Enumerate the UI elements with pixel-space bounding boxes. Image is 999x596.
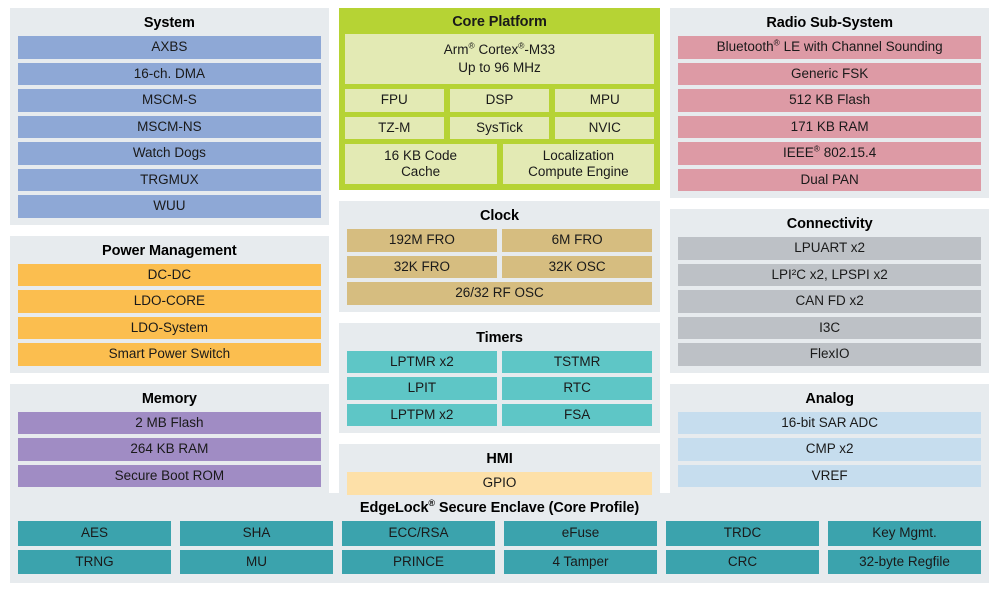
block-6m-fro[interactable]: 6M FRO <box>502 229 652 252</box>
block-32k-osc[interactable]: 32K OSC <box>502 256 652 279</box>
analog-row: 16-bit SAR ADC <box>678 412 981 435</box>
radio-row: Generic FSK <box>678 63 981 86</box>
block-i3c[interactable]: I3C <box>678 317 981 340</box>
block-lpi2c-lpspi[interactable]: LPI²C x2, LPSPI x2 <box>678 264 981 287</box>
hmi-row: GPIO <box>347 472 653 495</box>
block-lptpm[interactable]: LPTPM x2 <box>347 404 497 427</box>
left-column: System AXBS 16-ch. DMA MSCM-S MSCM-NS Wa… <box>10 8 329 482</box>
block-aes[interactable]: AES <box>18 521 171 546</box>
middle-column: Core Platform Arm® Cortex®-M33 Up to 96 … <box>339 8 661 482</box>
power-row: LDO-System <box>18 317 321 340</box>
block-rf-osc[interactable]: 26/32 RF OSC <box>347 282 653 305</box>
panel-title-memory: Memory <box>18 389 321 412</box>
registered-icon: ® <box>428 498 435 508</box>
panel-title-system: System <box>18 13 321 36</box>
block-prince[interactable]: PRINCE <box>342 550 495 575</box>
block-flexio[interactable]: FlexIO <box>678 343 981 366</box>
clock-rows: 192M FRO 6M FRO 32K FRO 32K OSC 26/32 RF… <box>347 229 653 305</box>
core-row-3: 16 KB Code Cache Localization Compute En… <box>345 144 655 184</box>
panel-title-hmi: HMI <box>347 449 653 472</box>
radio-row: 171 KB RAM <box>678 116 981 139</box>
block-fpu[interactable]: FPU <box>345 89 444 112</box>
code-cache-line1: 16 KB Code <box>384 148 457 163</box>
memory-row: 264 KB RAM <box>18 438 321 461</box>
diagram-columns: System AXBS 16-ch. DMA MSCM-S MSCM-NS Wa… <box>10 8 989 482</box>
block-dma[interactable]: 16-ch. DMA <box>18 63 321 86</box>
panel-edgelock-secure-enclave: EdgeLock® Secure Enclave (Core Profile) … <box>10 493 989 583</box>
system-row: 16-ch. DMA <box>18 63 321 86</box>
clock-row: 26/32 RF OSC <box>347 282 653 305</box>
panel-timers: Timers LPTMR x2 TSTMR LPIT RTC LPTPM x2 … <box>339 323 661 434</box>
block-cpu-core[interactable]: Arm® Cortex®-M33 Up to 96 MHz <box>345 34 655 84</box>
block-gpio[interactable]: GPIO <box>347 472 653 495</box>
block-nvic[interactable]: NVIC <box>555 117 654 140</box>
connectivity-row: LPUART x2 <box>678 237 981 260</box>
system-row: WUU <box>18 195 321 218</box>
block-dsp[interactable]: DSP <box>450 89 549 112</box>
enclave-row-2: TRNG MU PRINCE 4 Tamper CRC 32-byte Regf… <box>18 550 981 575</box>
radio-row: Bluetooth® LE with Channel Sounding <box>678 36 981 59</box>
connectivity-row: CAN FD x2 <box>678 290 981 313</box>
timers-row: LPTMR x2 TSTMR <box>347 351 653 374</box>
block-watch-dogs[interactable]: Watch Dogs <box>18 142 321 165</box>
system-row: MSCM-NS <box>18 116 321 139</box>
block-axbs[interactable]: AXBS <box>18 36 321 59</box>
block-mpu[interactable]: MPU <box>555 89 654 112</box>
lce-line2: Compute Engine <box>528 164 629 179</box>
block-key-mgmt[interactable]: Key Mgmt. <box>828 521 981 546</box>
connectivity-row: FlexIO <box>678 343 981 366</box>
registered-icon: ® <box>814 144 820 154</box>
panel-analog: Analog 16-bit SAR ADC CMP x2 VREF <box>670 384 989 495</box>
block-rtc[interactable]: RTC <box>502 377 652 400</box>
clock-row: 192M FRO 6M FRO <box>347 229 653 252</box>
system-rows: AXBS 16-ch. DMA MSCM-S MSCM-NS Watch Dog… <box>18 36 321 218</box>
block-192m-fro[interactable]: 192M FRO <box>347 229 497 252</box>
block-smart-power-switch[interactable]: Smart Power Switch <box>18 343 321 366</box>
panel-power-management: Power Management DC-DC LDO-CORE LDO-Syst… <box>10 236 329 373</box>
block-wuu[interactable]: WUU <box>18 195 321 218</box>
system-row: TRGMUX <box>18 169 321 192</box>
power-row: LDO-CORE <box>18 290 321 313</box>
block-vref[interactable]: VREF <box>678 465 981 488</box>
clock-row: 32K FRO 32K OSC <box>347 256 653 279</box>
timers-row: LPIT RTC <box>347 377 653 400</box>
right-column: Radio Sub-System Bluetooth® LE with Chan… <box>670 8 989 482</box>
hmi-rows: GPIO <box>347 472 653 495</box>
lce-line1: Localization <box>543 148 614 163</box>
block-trdc[interactable]: TRDC <box>666 521 819 546</box>
block-dual-pan[interactable]: Dual PAN <box>678 169 981 192</box>
code-cache-line2: Cache <box>401 164 440 179</box>
registered-icon: ® <box>469 41 475 51</box>
system-row: Watch Dogs <box>18 142 321 165</box>
block-ldo-core[interactable]: LDO-CORE <box>18 290 321 313</box>
power-row: Smart Power Switch <box>18 343 321 366</box>
block-tz-m[interactable]: TZ-M <box>345 117 444 140</box>
panel-title-analog: Analog <box>678 389 981 412</box>
block-4-tamper[interactable]: 4 Tamper <box>504 550 657 575</box>
block-generic-fsk[interactable]: Generic FSK <box>678 63 981 86</box>
block-trgmux[interactable]: TRGMUX <box>18 169 321 192</box>
block-ieee-802-15-4[interactable]: IEEE® 802.15.4 <box>678 142 981 165</box>
registered-icon: ® <box>518 41 524 51</box>
block-mscm-ns[interactable]: MSCM-NS <box>18 116 321 139</box>
power-row: DC-DC <box>18 264 321 287</box>
block-ecc-rsa[interactable]: ECC/RSA <box>342 521 495 546</box>
panel-title-radio-sub-system: Radio Sub-System <box>678 13 981 36</box>
block-radio-flash-512kb[interactable]: 512 KB Flash <box>678 89 981 112</box>
panel-radio-sub-system: Radio Sub-System Bluetooth® LE with Chan… <box>670 8 989 198</box>
panel-connectivity: Connectivity LPUART x2 LPI²C x2, LPSPI x… <box>670 209 989 373</box>
radio-row: IEEE® 802.15.4 <box>678 142 981 165</box>
radio-row: 512 KB Flash <box>678 89 981 112</box>
core-row-2: TZ-M SysTick NVIC <box>345 117 655 140</box>
block-tstmr[interactable]: TSTMR <box>502 351 652 374</box>
panel-title-timers: Timers <box>347 328 653 351</box>
block-32-byte-regfile[interactable]: 32-byte Regfile <box>828 550 981 575</box>
panel-hmi: HMI GPIO <box>339 444 661 502</box>
connectivity-row: LPI²C x2, LPSPI x2 <box>678 264 981 287</box>
timers-row: LPTPM x2 FSA <box>347 404 653 427</box>
block-lptmr[interactable]: LPTMR x2 <box>347 351 497 374</box>
panel-clock: Clock 192M FRO 6M FRO 32K FRO 32K OSC 26… <box>339 201 661 312</box>
power-rows: DC-DC LDO-CORE LDO-System Smart Power Sw… <box>18 264 321 366</box>
block-systick[interactable]: SysTick <box>450 117 549 140</box>
panel-title-core-platform: Core Platform <box>345 12 655 34</box>
block-code-cache[interactable]: 16 KB Code Cache <box>345 144 497 184</box>
block-mscm-s[interactable]: MSCM-S <box>18 89 321 112</box>
block-sha[interactable]: SHA <box>180 521 333 546</box>
block-diagram: System AXBS 16-ch. DMA MSCM-S MSCM-NS Wa… <box>0 0 999 596</box>
block-fsa[interactable]: FSA <box>502 404 652 427</box>
connectivity-rows: LPUART x2 LPI²C x2, LPSPI x2 CAN FD x2 I… <box>678 237 981 366</box>
panel-memory: Memory 2 MB Flash 264 KB RAM Secure Boot… <box>10 384 329 495</box>
cpu-name: Arm® Cortex®-M33 <box>347 41 653 59</box>
block-lpit[interactable]: LPIT <box>347 377 497 400</box>
block-ram-264kb[interactable]: 264 KB RAM <box>18 438 321 461</box>
block-ldo-system[interactable]: LDO-System <box>18 317 321 340</box>
block-radio-ram-171kb[interactable]: 171 KB RAM <box>678 116 981 139</box>
enclave-row-1: AES SHA ECC/RSA eFuse TRDC Key Mgmt. <box>18 521 981 546</box>
panel-title-connectivity: Connectivity <box>678 214 981 237</box>
block-can-fd[interactable]: CAN FD x2 <box>678 290 981 313</box>
analog-row: CMP x2 <box>678 438 981 461</box>
radio-rows: Bluetooth® LE with Channel Sounding Gene… <box>678 36 981 191</box>
block-lpuart[interactable]: LPUART x2 <box>678 237 981 260</box>
panel-title-edgelock: EdgeLock® Secure Enclave (Core Profile) <box>18 498 981 521</box>
core-row-1: FPU DSP MPU <box>345 89 655 112</box>
registered-icon: ® <box>774 38 780 48</box>
block-crc[interactable]: CRC <box>666 550 819 575</box>
analog-rows: 16-bit SAR ADC CMP x2 VREF <box>678 412 981 488</box>
system-row: AXBS <box>18 36 321 59</box>
memory-row: 2 MB Flash <box>18 412 321 435</box>
radio-row: Dual PAN <box>678 169 981 192</box>
panel-system: System AXBS 16-ch. DMA MSCM-S MSCM-NS Wa… <box>10 8 329 225</box>
block-mu[interactable]: MU <box>180 550 333 575</box>
enclave-rows: AES SHA ECC/RSA eFuse TRDC Key Mgmt. TRN… <box>18 521 981 574</box>
block-32k-fro[interactable]: 32K FRO <box>347 256 497 279</box>
block-dc-dc[interactable]: DC-DC <box>18 264 321 287</box>
timers-rows: LPTMR x2 TSTMR LPIT RTC LPTPM x2 FSA <box>347 351 653 427</box>
cpu-frequency: Up to 96 MHz <box>347 59 653 77</box>
block-sar-adc[interactable]: 16-bit SAR ADC <box>678 412 981 435</box>
block-secure-boot-rom[interactable]: Secure Boot ROM <box>18 465 321 488</box>
panel-title-power-management: Power Management <box>18 241 321 264</box>
block-trng[interactable]: TRNG <box>18 550 171 575</box>
block-cmp[interactable]: CMP x2 <box>678 438 981 461</box>
panel-core-platform: Core Platform Arm® Cortex®-M33 Up to 96 … <box>339 8 661 190</box>
block-localization-compute-engine[interactable]: Localization Compute Engine <box>503 144 655 184</box>
panel-title-clock: Clock <box>347 206 653 229</box>
block-efuse[interactable]: eFuse <box>504 521 657 546</box>
core-rows: Arm® Cortex®-M33 Up to 96 MHz FPU DSP MP… <box>345 34 655 184</box>
block-flash-2mb[interactable]: 2 MB Flash <box>18 412 321 435</box>
connectivity-row: I3C <box>678 317 981 340</box>
memory-row: Secure Boot ROM <box>18 465 321 488</box>
system-row: MSCM-S <box>18 89 321 112</box>
memory-rows: 2 MB Flash 264 KB RAM Secure Boot ROM <box>18 412 321 488</box>
block-bluetooth-le[interactable]: Bluetooth® LE with Channel Sounding <box>678 36 981 59</box>
analog-row: VREF <box>678 465 981 488</box>
